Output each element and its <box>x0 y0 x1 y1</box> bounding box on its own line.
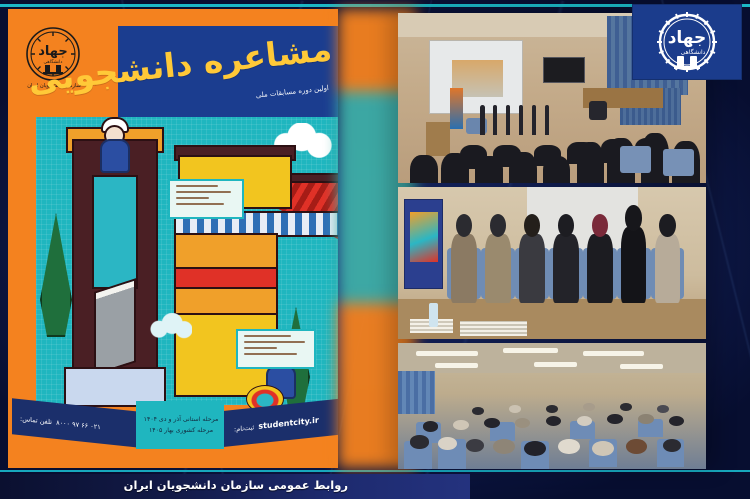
staircase-shape <box>94 278 136 376</box>
jahad-daneshgahi-badge: جهاد دانشگاهی <box>632 4 742 80</box>
poster-illustration <box>36 117 338 405</box>
photo-panel-speakers <box>398 187 706 339</box>
speech-bubble-bottom <box>236 329 316 369</box>
svg-text:جهاد: جهاد <box>668 28 707 48</box>
book-stack <box>460 321 528 336</box>
tower-inner-shape <box>92 175 138 289</box>
public-relations-caption-bar: روابط عمومی سازمان دانشجویان ایران <box>0 474 470 499</box>
panelist <box>549 214 583 302</box>
wall-tv <box>543 57 585 83</box>
panelist <box>481 214 515 302</box>
screenshot-root: جهاد دانشگاهی سازمان دانشجویان ایران مشا… <box>0 0 750 499</box>
robe-shape <box>100 139 130 173</box>
photo-audience-auditorium <box>398 343 706 469</box>
bottom-accent-rule <box>0 470 750 472</box>
poster-title-band: مشاعره دانشجویی اولین دوره مسابقات ملی <box>118 26 338 126</box>
poster-stage-provincial: مرحله استانی آذر و دی ۱۴۰۴ <box>142 415 220 426</box>
poster-subtitle: اولین دوره مسابقات ملی <box>255 84 329 100</box>
poster-register-label: ثبت‌نام: <box>234 423 254 433</box>
poster-stage-dates: مرحله استانی آذر و دی ۱۴۰۴ مرحله کشوری ب… <box>142 415 220 436</box>
audience-crowd <box>398 376 706 469</box>
public-relations-caption: روابط عمومی سازمان دانشجویان ایران <box>124 478 348 492</box>
panelist <box>447 214 481 302</box>
speech-bubble-top <box>168 179 244 219</box>
panelist <box>583 214 617 302</box>
svg-text:دانشگاهی: دانشگاهی <box>681 48 706 56</box>
poster-stage-national: مرحله کشوری بهار ۱۴۰۵ <box>142 426 220 437</box>
audience-silhouettes <box>398 105 706 183</box>
cypress-tree-icon <box>40 213 72 337</box>
mosharee-daneshjooyi-poster: جهاد دانشگاهی سازمان دانشجویان ایران مشا… <box>8 9 338 468</box>
event-standee <box>404 199 443 289</box>
panelist <box>515 214 549 302</box>
water-bottle <box>429 303 438 327</box>
panelist-speaking <box>617 205 651 302</box>
red-band-shape <box>174 267 278 289</box>
panelist <box>651 214 685 302</box>
steam-cloud-icon <box>148 313 192 339</box>
